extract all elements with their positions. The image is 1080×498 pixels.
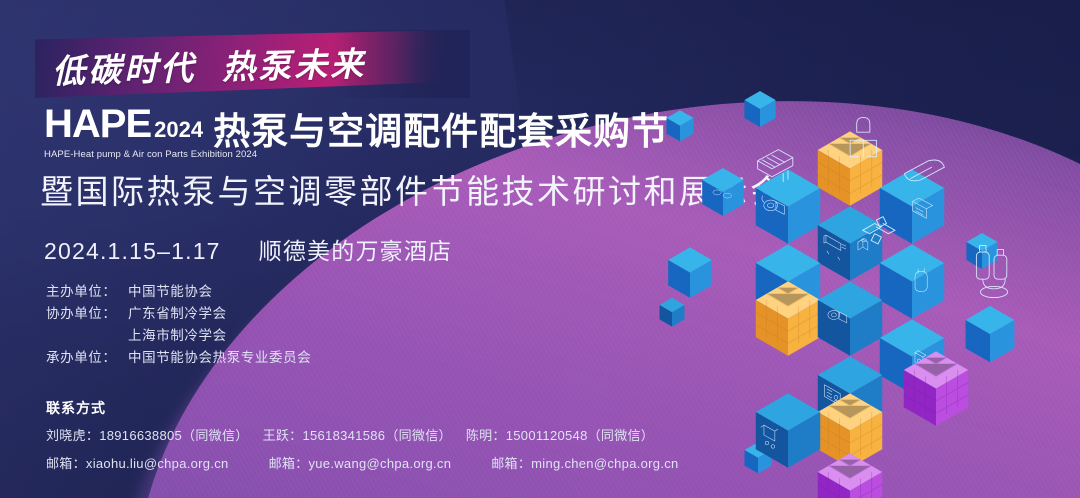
organizer-value: 中国节能协会热泵专业委员会 bbox=[128, 347, 311, 369]
contact-heading: 联系方式 bbox=[46, 398, 106, 418]
event-date-venue: 2024.1.15–1.17 顺德美的万豪酒店 bbox=[44, 232, 452, 266]
organizer-label: 协办单位： bbox=[46, 303, 128, 325]
contact-note: （同微信） bbox=[588, 428, 655, 443]
event-date: 2024.1.15–1.17 bbox=[44, 238, 221, 264]
brand-year: 2024 bbox=[154, 119, 203, 141]
organizer-value: 上海市制冷学会 bbox=[128, 325, 227, 347]
contact-email-row: 邮箱：xiaohu.liu@chpa.org.cn 邮箱：yue.wang@ch… bbox=[46, 453, 679, 472]
contact-name: 陈明： bbox=[466, 428, 506, 443]
contact-phone: 15001120548 bbox=[506, 428, 588, 443]
contact-note: （同微信） bbox=[385, 428, 452, 443]
contact-phone: 15618341586 bbox=[302, 428, 385, 443]
contact-name: 刘晓虎： bbox=[46, 428, 99, 443]
contact-person: 刘晓虎：18916638805（同微信） bbox=[46, 425, 249, 444]
email-label: 邮箱： bbox=[491, 456, 531, 471]
contact-person: 陈明：15001120548（同微信） bbox=[466, 425, 654, 444]
email-address[interactable]: ming.chen@chpa.org.cn bbox=[531, 456, 678, 471]
organizer-value: 中国节能协会 bbox=[128, 281, 213, 303]
organizer-label bbox=[46, 325, 128, 347]
email-label: 邮箱： bbox=[46, 456, 86, 471]
organizer-label: 主办单位： bbox=[46, 281, 128, 303]
slogan-part-1: 低碳时代 bbox=[51, 41, 196, 93]
organizer-row: 上海市制冷学会 bbox=[46, 325, 311, 347]
organizer-value: 广东省制冷学会 bbox=[128, 303, 227, 325]
poster-canvas: 低碳时代 热泵未来 HAPE 2024 HAPE-Heat pump & Air… bbox=[0, 0, 1080, 498]
title-row: HAPE 2024 HAPE-Heat pump & Air con Parts… bbox=[44, 104, 669, 160]
slogan-part-2: 热泵未来 bbox=[221, 37, 366, 89]
isometric-cube-artwork: .b-t{fill:#37b4ea}.b-l{fill:#1767c0}.b-r… bbox=[660, 120, 1060, 498]
contact-phone: 18916638805 bbox=[99, 428, 182, 443]
contact-name: 王跃： bbox=[263, 428, 303, 443]
organizer-list: 主办单位： 中国节能协会 协办单位： 广东省制冷学会 上海市制冷学会 承办单位：… bbox=[46, 281, 311, 369]
contact-phone-row: 刘晓虎：18916638805（同微信） 王跃：15618341586（同微信）… bbox=[46, 425, 654, 444]
email-address[interactable]: yue.wang@chpa.org.cn bbox=[308, 456, 451, 471]
event-venue: 顺德美的万豪酒店 bbox=[259, 238, 453, 264]
page-title: 热泵与空调配件配套采购节 bbox=[213, 113, 669, 150]
contact-email-item: 邮箱：yue.wang@chpa.org.cn bbox=[269, 453, 452, 472]
brand-lockup: HAPE 2024 HAPE-Heat pump & Air con Parts… bbox=[44, 104, 203, 160]
contact-email-item: 邮箱：ming.chen@chpa.org.cn bbox=[491, 453, 678, 472]
slogan-text: 低碳时代 热泵未来 bbox=[51, 29, 452, 99]
contact-note: （同微信） bbox=[182, 428, 249, 443]
brand-english-subtitle: HAPE-Heat pump & Air con Parts Exhibitio… bbox=[44, 149, 257, 160]
organizer-row: 承办单位： 中国节能协会热泵专业委员会 bbox=[46, 347, 311, 369]
organizer-row: 协办单位： 广东省制冷学会 bbox=[46, 303, 311, 325]
organizer-row: 主办单位： 中国节能协会 bbox=[46, 281, 311, 303]
brand-line: HAPE 2024 bbox=[44, 104, 203, 144]
brand-name: HAPE bbox=[44, 104, 151, 144]
email-label: 邮箱： bbox=[269, 456, 309, 471]
contact-person: 王跃：15618341586（同微信） bbox=[263, 425, 452, 444]
email-address[interactable]: xiaohu.liu@chpa.org.cn bbox=[86, 456, 229, 471]
contact-email-item: 邮箱：xiaohu.liu@chpa.org.cn bbox=[46, 453, 229, 472]
organizer-label: 承办单位： bbox=[46, 347, 128, 369]
